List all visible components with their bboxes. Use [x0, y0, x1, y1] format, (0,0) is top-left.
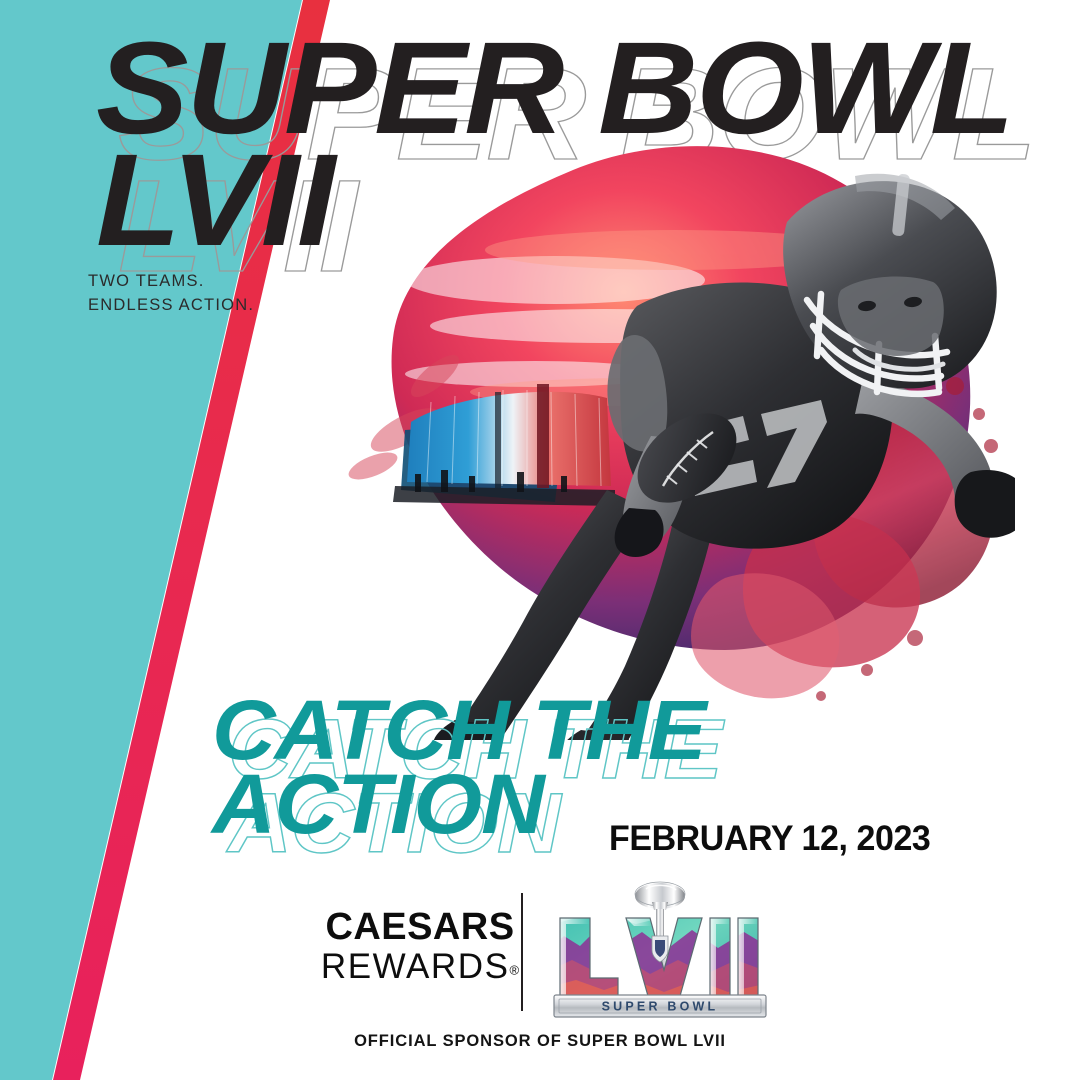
super-bowl-lvii-logo[interactable]: SUPER BOWL — [546, 880, 774, 1020]
poster-canvas: SUPER BOWL LVII SUPER BOWL LVII TWO TEAM… — [0, 0, 1080, 1080]
svg-text:SUPER BOWL: SUPER BOWL — [602, 1000, 719, 1014]
sponsor-lockup: CAESARS REWARDS® — [300, 880, 780, 1020]
tagline-line2: ENDLESS ACTION. — [88, 294, 254, 318]
lockup-divider — [521, 893, 523, 1011]
hero-image — [255, 130, 1015, 740]
registered-mark-icon: ® — [510, 963, 520, 978]
caesars-wordmark: CAESARS — [310, 908, 530, 947]
tagline: TWO TEAMS. ENDLESS ACTION. — [88, 270, 254, 318]
caesars-rewards-logo[interactable]: CAESARS REWARDS® — [310, 908, 530, 986]
rewards-text: REWARDS — [321, 947, 510, 986]
event-date: FEBRUARY 12, 2023 — [609, 819, 930, 859]
super-bowl-banner: SUPER BOWL — [554, 995, 766, 1017]
subhead-line2: ACTION — [212, 762, 544, 846]
official-sponsor-line: OFFICIAL SPONSOR OF SUPER BOWL LVII — [0, 1032, 1080, 1051]
rewards-wordmark: REWARDS® — [310, 947, 530, 986]
tagline-line1: TWO TEAMS. — [88, 270, 254, 294]
